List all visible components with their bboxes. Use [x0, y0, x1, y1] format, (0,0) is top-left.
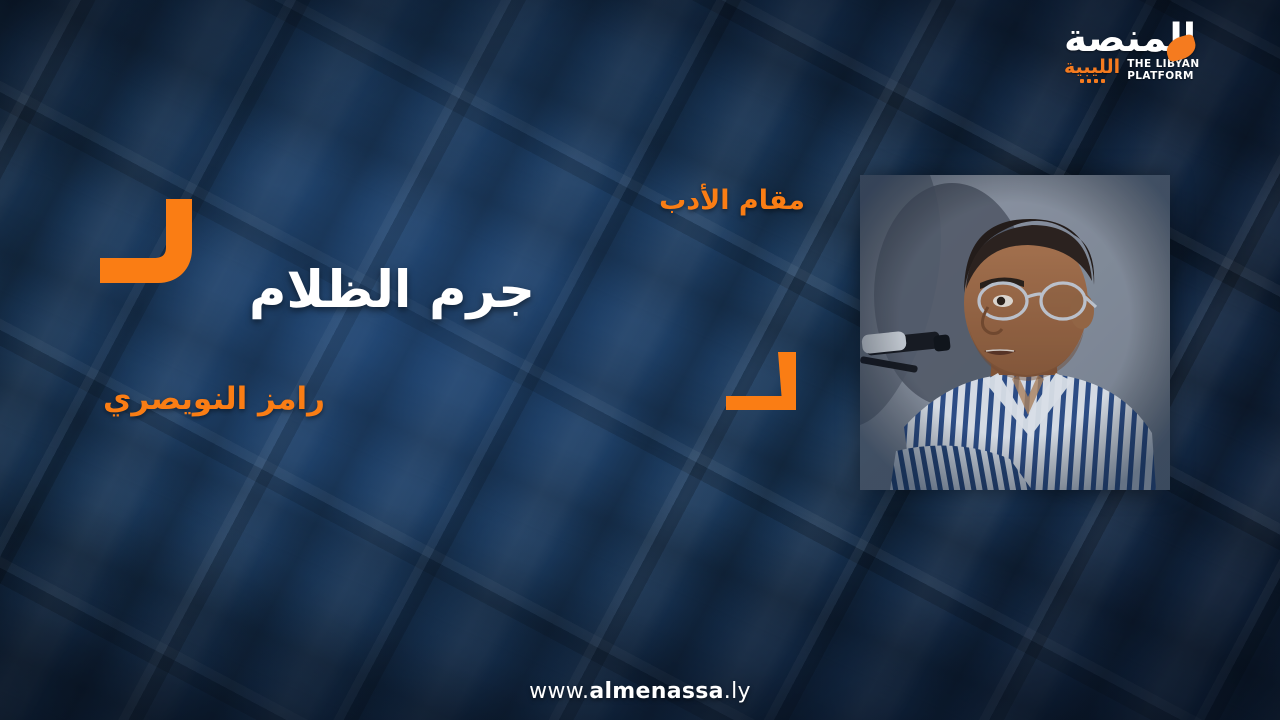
site-url-prefix: www.: [529, 679, 589, 704]
logo-english-name: THE LIBYAN PLATFORM: [1127, 59, 1199, 83]
logo-english-line-1: THE LIBYAN: [1127, 59, 1199, 71]
quote-close-icon: [726, 352, 796, 410]
category-label: مقام الأدب: [659, 185, 805, 216]
quote-open-icon: [100, 199, 192, 283]
logo-sub-row: THE LIBYAN PLATFORM الليبية: [1064, 58, 1200, 83]
site-url-name: almenassa: [589, 679, 723, 704]
author-portrait-image: [860, 175, 1170, 490]
author-portrait: [860, 175, 1170, 490]
logo-dots-decoration: [1080, 79, 1105, 83]
author-name: رامز النويصري: [103, 381, 325, 417]
site-logo[interactable]: المنصة THE LIBYAN PLATFORM الليبية: [1064, 20, 1254, 102]
site-url[interactable]: www.almenassa.ly: [0, 679, 1280, 704]
logo-subtitle-arabic: الليبية: [1064, 58, 1120, 77]
site-url-suffix: .ly: [724, 679, 751, 704]
logo-english-line-2: PLATFORM: [1127, 71, 1194, 83]
poster-canvas: المنصة THE LIBYAN PLATFORM الليبية مقام …: [0, 0, 1280, 720]
page-title: جرم الظلام: [249, 263, 535, 319]
